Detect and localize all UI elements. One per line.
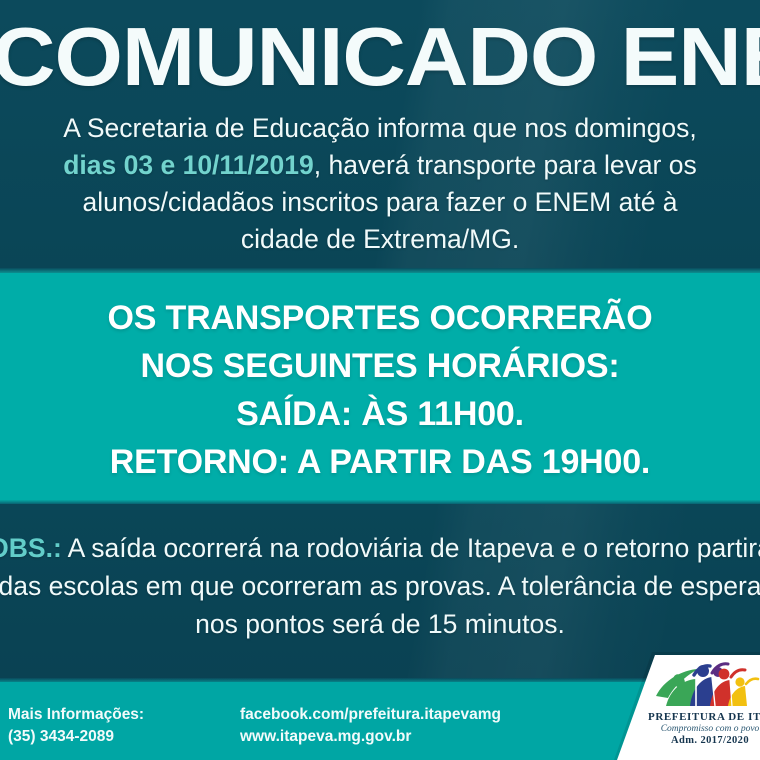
footer-phone[interactable]: (35) 3434-2089 — [8, 726, 144, 748]
prefeitura-logo-icon — [652, 660, 760, 712]
footer-facebook-link[interactable]: facebook.com/prefeitura.itapevamg — [240, 704, 501, 726]
intro-line-1: A Secretaria de Educação informa que nos… — [63, 113, 696, 143]
intro-line-2-rest: , haverá transporte para levar os — [314, 150, 697, 180]
observation-paragraph: OBS.: A saída ocorrerá na rodoviária de … — [0, 529, 760, 643]
intro-dates-highlight: dias 03 e 10/11/2019 — [63, 150, 314, 180]
footer-contact-label: Mais Informações: — [8, 704, 144, 726]
schedule-line-3: SAÍDA: ÀS 11H00. — [0, 390, 760, 438]
schedule-line-1: OS TRANSPORTES OCORRERÃO — [0, 294, 760, 342]
poster-canvas: COMUNICADO ENEM A Secretaria de Educação… — [0, 0, 760, 760]
schedule-line-2: NOS SEGUINTES HORÁRIOS: — [0, 342, 760, 390]
logo-name: PREFEITURA DE ITAPEVA — [648, 711, 760, 723]
logo-wordmark: PREFEITURA DE ITAPEVA Compromisso com o … — [648, 711, 760, 746]
observation-text: A saída ocorrerá na rodoviária de Itapev… — [0, 533, 760, 639]
logo-admin: Adm. 2017/2020 — [648, 735, 760, 746]
intro-paragraph: A Secretaria de Educação informa que nos… — [14, 110, 746, 258]
footer-contact-block: Mais Informações: (35) 3434-2089 — [8, 704, 144, 748]
footer-links-block: facebook.com/prefeitura.itapevamg www.it… — [240, 704, 501, 748]
logo-slogan: Compromisso com o povo — [648, 724, 760, 734]
schedule-line-4: RETORNO: A PARTIR DAS 19H00. — [0, 438, 760, 486]
page-title: COMUNICADO ENEM — [0, 12, 760, 102]
footer-website-link[interactable]: www.itapeva.mg.gov.br — [240, 726, 501, 748]
band-divider-top — [0, 268, 760, 273]
intro-line-3: alunos/cidadãos inscritos para fazer o E… — [82, 187, 677, 217]
intro-line-4: cidade de Extrema/MG. — [241, 224, 519, 254]
observation-label: OBS.: — [0, 533, 62, 563]
schedule-headline: OS TRANSPORTES OCORRERÃO NOS SEGUINTES H… — [0, 294, 760, 486]
